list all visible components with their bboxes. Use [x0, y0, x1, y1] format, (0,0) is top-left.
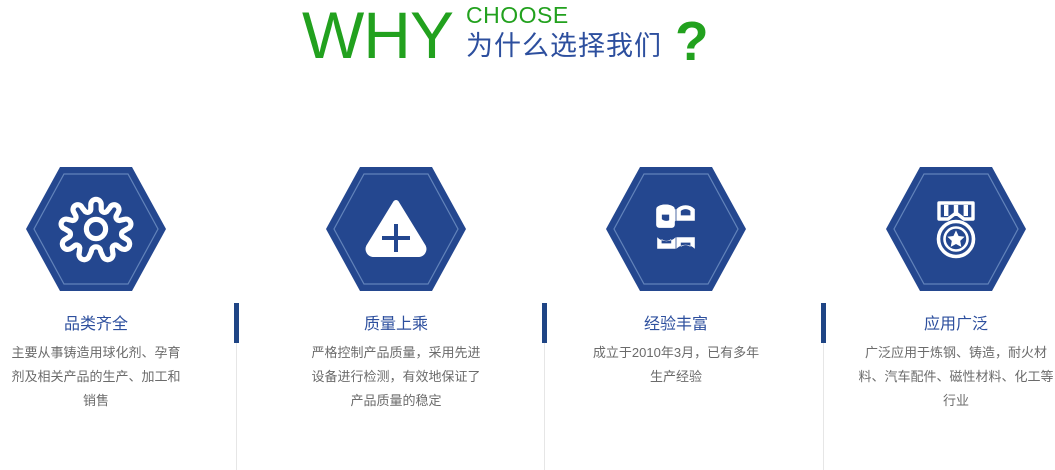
card-title: 应用广泛 [816, 315, 1055, 335]
card-divider [544, 303, 545, 470]
header-why-text: WHY [302, 2, 453, 68]
header-question-mark: ? [675, 14, 709, 69]
hexagon-badge [324, 165, 468, 293]
four-petal-icon [604, 165, 748, 293]
card-divider [236, 303, 237, 470]
card-title: 质量上乘 [256, 315, 536, 335]
card-title: 品类齐全 [0, 315, 236, 335]
hexagon-badge [24, 165, 168, 293]
hexagon-badge [604, 165, 748, 293]
header-subtitle-cn: 为什么选择我们 [466, 30, 662, 63]
feature-card[interactable]: 品类齐全 主要从事铸造用球化剂、孕育剂及相关产品的生产、加工和销售 [0, 150, 236, 413]
feature-card[interactable]: 经验丰富 成立于2010年3月，已有多年生产经验 [536, 150, 816, 389]
card-title: 经验丰富 [536, 315, 816, 335]
feature-card[interactable]: 应用广泛 广泛应用于炼钢、铸造，耐火材料、汽车配件、磁性材料、化工等行业 [816, 150, 1055, 413]
feature-cards-row: 品类齐全 主要从事铸造用球化剂、孕育剂及相关产品的生产、加工和销售 质量上乘 严… [0, 150, 1055, 416]
header-choose-text: CHOOSE [466, 2, 662, 28]
header-title-group: WHY CHOOSE 为什么选择我们 ? [302, 0, 709, 92]
triangle-plus-icon [324, 165, 468, 293]
card-description: 成立于2010年3月，已有多年生产经验 [536, 341, 816, 389]
header-text-stack: CHOOSE 为什么选择我们 [466, 2, 662, 63]
section-header: WHY CHOOSE 为什么选择我们 ? [0, 0, 1055, 92]
card-description: 主要从事铸造用球化剂、孕育剂及相关产品的生产、加工和销售 [0, 341, 236, 413]
medal-icon [884, 165, 1028, 293]
card-description: 广泛应用于炼钢、铸造，耐火材料、汽车配件、磁性材料、化工等行业 [816, 341, 1055, 413]
hexagon-badge [884, 165, 1028, 293]
card-description: 严格控制产品质量，采用先进设备进行检测，有效地保证了产品质量的稳定 [256, 341, 536, 413]
card-divider [823, 303, 824, 470]
feature-card[interactable]: 质量上乘 严格控制产品质量，采用先进设备进行检测，有效地保证了产品质量的稳定 [256, 150, 536, 413]
gear-icon [24, 165, 168, 293]
